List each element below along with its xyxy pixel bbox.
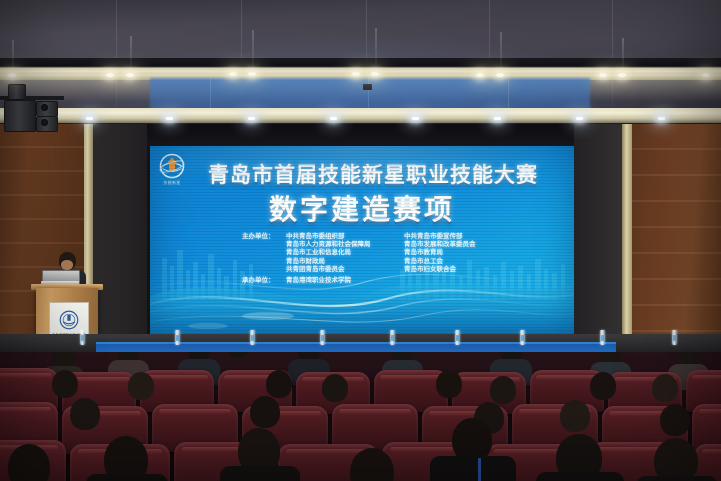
downlight xyxy=(618,73,626,77)
college-emblem-icon xyxy=(59,310,79,330)
left-speaker-array xyxy=(8,84,26,100)
audience-head xyxy=(652,374,678,402)
water-bottle xyxy=(250,330,255,345)
downlight xyxy=(8,73,16,77)
light-beam xyxy=(375,28,377,72)
led-display-screen: 技能新星 青岛市首届技能新星职业技能大赛 数字建造赛项 主办单位： 中共青岛市委… xyxy=(150,146,574,334)
audience-head xyxy=(70,398,100,430)
downlight xyxy=(229,72,237,76)
audience-head xyxy=(560,400,590,432)
wall-panel-left-dark xyxy=(93,124,147,352)
audience-body xyxy=(636,476,718,481)
downlight xyxy=(248,117,255,120)
presenter-face xyxy=(61,260,73,270)
cavity-seam xyxy=(210,78,211,112)
light-beam xyxy=(500,32,502,72)
downlight xyxy=(412,117,419,120)
ceiling-sensor-box xyxy=(363,84,372,90)
audience-head xyxy=(250,396,280,428)
auditorium-photo: 技能新星 青岛市首届技能新星职业技能大赛 数字建造赛项 主办单位： 中共青岛市委… xyxy=(0,0,721,481)
audience-head xyxy=(490,376,516,404)
water-bottle xyxy=(520,330,525,345)
left-speaker-array xyxy=(4,100,36,132)
water-bottle xyxy=(390,330,395,345)
water-bottle xyxy=(672,330,677,345)
downlight xyxy=(658,117,665,120)
downlight xyxy=(496,73,504,77)
light-beam xyxy=(252,30,254,72)
downlight xyxy=(599,73,607,77)
wall-panel-right-dark xyxy=(574,124,622,352)
downlight xyxy=(248,72,256,76)
downlight xyxy=(476,73,484,77)
downlight xyxy=(352,72,360,76)
light-beam xyxy=(622,38,624,72)
wall-trim-right xyxy=(622,124,632,352)
audience-head xyxy=(590,372,616,400)
water-bottle xyxy=(320,330,325,345)
water-bottle xyxy=(600,330,605,345)
audience-area xyxy=(0,352,721,481)
audience-body xyxy=(86,474,168,481)
audience-body xyxy=(430,456,516,481)
speaker-driver-icon xyxy=(41,119,48,126)
downlight xyxy=(371,72,379,76)
audience-head xyxy=(660,404,690,436)
downlight xyxy=(330,117,337,120)
water-bottle xyxy=(455,330,460,345)
audience-head xyxy=(322,374,348,402)
audience-body xyxy=(220,466,300,481)
wall-panel-right-wood xyxy=(632,124,721,352)
downlight xyxy=(166,117,173,120)
downlight xyxy=(576,117,583,120)
screen-vignette xyxy=(150,146,574,334)
cavity-seam xyxy=(508,78,509,112)
audience-head xyxy=(266,370,292,398)
light-beam xyxy=(130,36,132,72)
light-beam xyxy=(12,40,14,72)
audience-head xyxy=(128,372,154,400)
audience-head xyxy=(654,438,698,481)
downlight xyxy=(126,73,134,77)
downlight xyxy=(494,117,501,120)
downlight xyxy=(86,117,93,120)
water-bottle xyxy=(80,330,85,345)
downlight xyxy=(702,73,710,77)
audience-head xyxy=(436,370,462,398)
audience-head xyxy=(52,370,78,398)
audience-body xyxy=(536,472,624,481)
speaker-driver-icon xyxy=(41,104,48,111)
water-bottle xyxy=(175,330,180,345)
audience-lanyard xyxy=(478,458,481,481)
stage-back-wall xyxy=(147,124,574,146)
downlight xyxy=(106,73,114,77)
audience-head xyxy=(228,352,248,358)
